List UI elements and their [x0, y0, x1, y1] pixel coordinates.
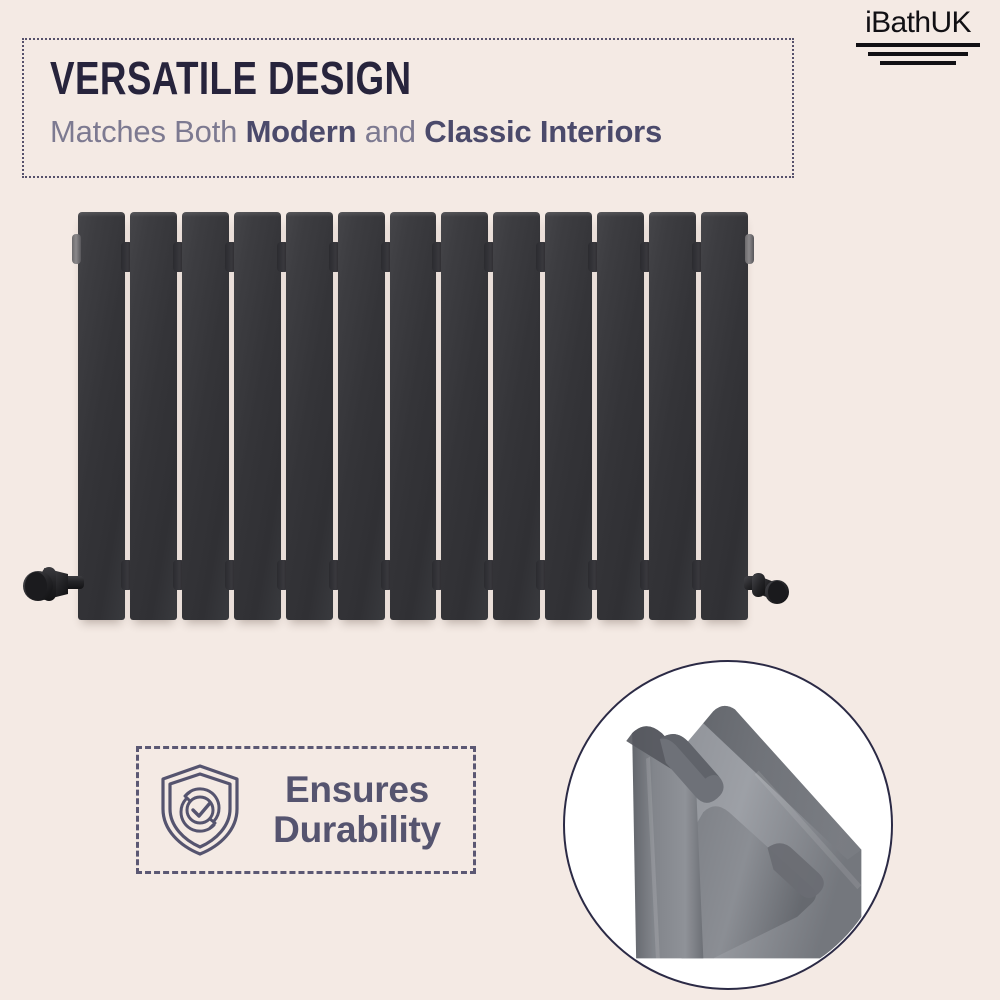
badge-line-1: Ensures [285, 769, 429, 810]
radiator-end-cap-right [745, 234, 754, 264]
radiator-panel [493, 212, 540, 620]
radiator-panel [649, 212, 696, 620]
radiator-panel [545, 212, 592, 620]
radiator-panel [234, 212, 281, 620]
radiator-panel [78, 212, 125, 620]
radiator-panel-group [78, 212, 748, 620]
brand-logo-rule-2 [868, 52, 968, 56]
valve-left-icon [22, 560, 84, 612]
radiator-panel [701, 212, 748, 620]
subtitle-part-1: Matches Both [50, 114, 246, 149]
brand-logo-rule-1 [856, 43, 980, 47]
durability-badge-text: Ensures Durability [257, 770, 457, 850]
badge-line-2: Durability [273, 809, 441, 850]
radiator-panel [286, 212, 333, 620]
page-title: VERSATILE DESIGN [50, 54, 626, 102]
durability-badge: Ensures Durability [136, 746, 476, 874]
brand-logo: iBathUK [852, 8, 984, 65]
radiator-panel [441, 212, 488, 620]
brand-logo-rule-3 [880, 61, 956, 65]
brand-logo-wordmark: iBathUK [852, 8, 984, 38]
radiator-panel [597, 212, 644, 620]
radiator-panel [338, 212, 385, 620]
radiator-end-cap-left [72, 234, 81, 264]
header-callout-box: VERSATILE DESIGN Matches Both Modern and… [22, 38, 794, 178]
radiator-panel [130, 212, 177, 620]
valve-right-icon [744, 566, 792, 608]
page-subtitle: Matches Both Modern and Classic Interior… [50, 114, 770, 150]
shield-refresh-check-icon [157, 762, 243, 858]
product-detail-closeup [563, 660, 893, 990]
subtitle-emphasis-classic: Classic Interiors [424, 114, 662, 149]
subtitle-part-2: and [356, 114, 424, 149]
subtitle-emphasis-modern: Modern [246, 114, 357, 149]
radiator-panel [390, 212, 437, 620]
product-radiator [78, 212, 748, 620]
radiator-panel [182, 212, 229, 620]
